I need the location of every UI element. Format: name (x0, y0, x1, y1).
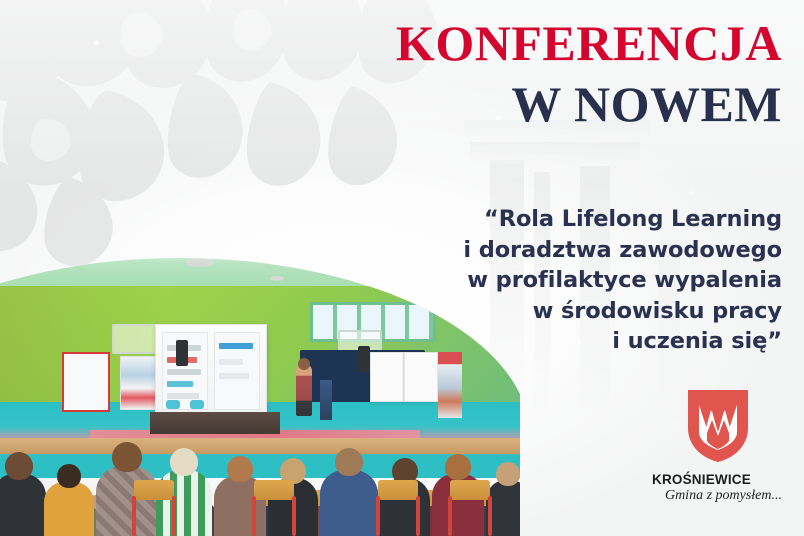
headline-line-1: KONFERENCJA (222, 18, 782, 69)
coat-of-arms-shield-icon (686, 388, 750, 464)
speaker-head (298, 358, 310, 370)
loudspeaker-icon (176, 340, 188, 366)
municipality-tagline: Gmina z pomysłem... (648, 488, 788, 504)
audience-group (0, 428, 520, 536)
quote-line-1: “Rola Lifelong Learning (352, 204, 782, 235)
quote-line-5: i uczenia się” (352, 326, 782, 357)
ceiling-light-icon (270, 276, 284, 281)
conference-topic-quote: “Rola Lifelong Learning i doradztwa zawo… (352, 204, 782, 357)
audience-person (320, 470, 378, 536)
lectern (320, 380, 332, 420)
chair (250, 480, 298, 536)
chair (130, 480, 178, 536)
poster-headline: KONFERENCJA W NOWEM (222, 18, 782, 130)
presentation-screen (155, 324, 267, 416)
roll-up-banner (438, 352, 462, 418)
chair (374, 480, 422, 536)
quote-line-3: w profilaktyce wypalenia (352, 265, 782, 296)
headline-line-2: W NOWEM (222, 79, 782, 130)
wall-whiteboard (62, 352, 110, 412)
slide-column (214, 332, 260, 410)
quote-line-4: w środowisku pracy (352, 296, 782, 327)
flipchart (404, 352, 438, 402)
audience-person (0, 474, 46, 536)
poster-canvas: KONFERENCJA W NOWEM “Rola Lifelong Learn… (0, 0, 804, 536)
municipality-logo: KROŚNIEWICE Gmina z pomysłem... (648, 388, 788, 504)
chair (446, 480, 494, 536)
municipality-name: KROŚNIEWICE (648, 472, 788, 487)
speaker-person (296, 364, 312, 416)
flipchart (370, 352, 404, 402)
audience-person (44, 482, 94, 536)
ceiling-light-icon (186, 258, 214, 267)
roll-up-banner (120, 356, 158, 410)
quote-line-2: i doradztwa zawodowego (352, 235, 782, 266)
